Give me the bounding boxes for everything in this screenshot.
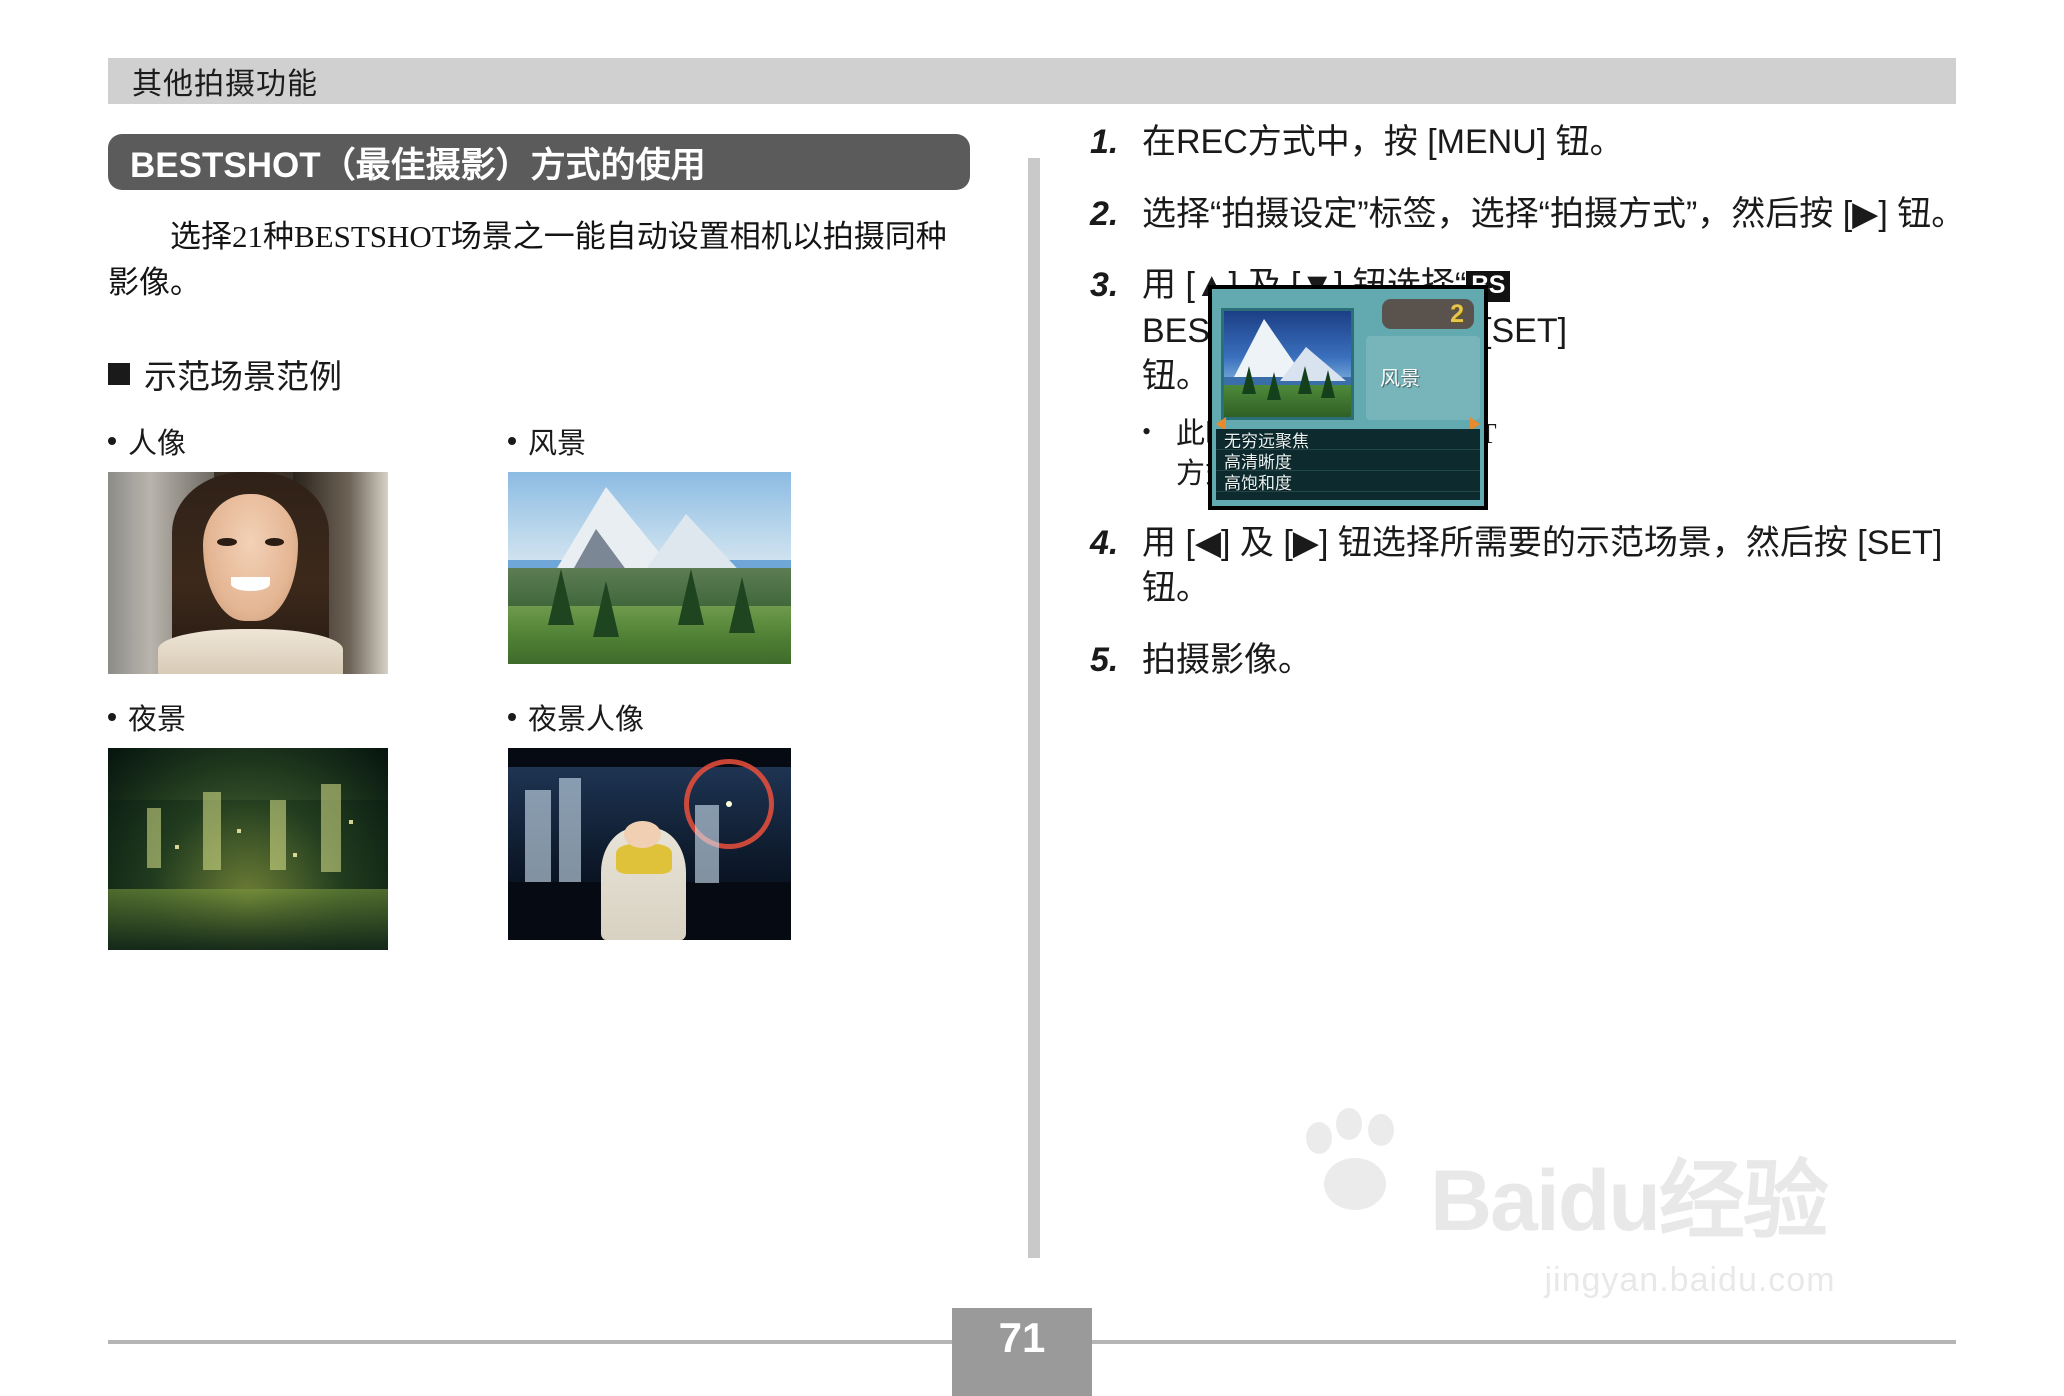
- sample-caption-label: 人像: [128, 420, 186, 462]
- square-bullet-icon: [108, 363, 130, 385]
- column-divider: [1028, 158, 1040, 1258]
- lcd-scene-preview: [1221, 308, 1354, 420]
- lcd-scene-name: 风景: [1380, 362, 1420, 391]
- page-number-box: 71: [952, 1308, 1092, 1396]
- sample-cell: 风景: [508, 420, 848, 674]
- lcd-scene-namebox: 风景: [1366, 336, 1480, 420]
- watermark-main-text: Baidu经验: [1430, 1130, 1950, 1255]
- step-text: 用 [◀] 及 [▶] 钮选择所需要的示范场景，然后按 [SET] 钮。: [1142, 521, 1970, 612]
- sample-caption: 人像: [108, 420, 448, 462]
- portrait-photo: [108, 472, 388, 674]
- chapter-header: 其他拍摄功能: [108, 58, 1956, 104]
- bullet-dot-icon: •: [1142, 414, 1176, 495]
- landscape-photo: [508, 472, 791, 664]
- bullet-dot-icon: [508, 437, 516, 445]
- sample-caption-label: 夜景: [128, 696, 186, 738]
- bullet-dot-icon: [108, 437, 116, 445]
- step-number: 3.: [1090, 263, 1142, 495]
- bullet-dot-icon: [108, 713, 116, 721]
- intro-paragraph: 选择21种BESTSHOT场景之一能自动设置相机以拍摄同种影像。: [108, 214, 948, 306]
- step-1: 1. 在REC方式中，按 [MENU] 钮。: [1090, 120, 1970, 166]
- section-banner: BESTSHOT（最佳摄影）方式的使用: [108, 134, 970, 190]
- sample-caption-label: 夜景人像: [528, 696, 644, 738]
- manual-page: 其他拍摄功能 BESTSHOT（最佳摄影）方式的使用 选择21种BESTSHOT…: [0, 0, 2064, 1396]
- step-5: 5. 拍摄影像。: [1090, 638, 1970, 684]
- step-number: 2.: [1090, 192, 1142, 238]
- sample-caption-label: 风景: [528, 420, 586, 462]
- sample-cell: 夜景: [108, 696, 448, 950]
- step-text: 选择“拍摄设定”标签，选择“拍摄方式”，然后按 [▶] 钮。: [1142, 192, 1965, 238]
- night-portrait-photo: [508, 748, 791, 940]
- step-number: 4.: [1090, 521, 1142, 612]
- sample-scene-grid: 人像 风景: [108, 420, 988, 950]
- step-number: 5.: [1090, 638, 1142, 684]
- paw-print-icon: [1300, 1106, 1420, 1216]
- sample-cell: 人像: [108, 420, 448, 674]
- watermark-sub-text: jingyan.baidu.com: [1430, 1261, 1950, 1300]
- sub-heading-label: 示范场景范例: [144, 350, 342, 398]
- step-text: 拍摄影像。: [1142, 638, 1312, 684]
- lcd-screen: 2 风景 无穷远聚焦 高清晰度 高饱和度: [1212, 289, 1484, 506]
- left-column: BESTSHOT（最佳摄影）方式的使用 选择21种BESTSHOT场景之一能自动…: [108, 120, 988, 950]
- lcd-scene-counter: 2: [1382, 299, 1474, 329]
- sample-cell: 夜景人像: [508, 696, 848, 950]
- lcd-list-item: 高饱和度: [1216, 471, 1480, 492]
- camera-lcd-illustration: 2 风景 无穷远聚焦 高清晰度 高饱和度: [1208, 285, 1488, 510]
- baidu-watermark: Baidu经验 jingyan.baidu.com: [1430, 1130, 1950, 1320]
- sub-heading: 示范场景范例: [108, 350, 988, 398]
- lcd-feature-list: 无穷远聚焦 高清晰度 高饱和度: [1216, 429, 1480, 500]
- section-banner-title: BESTSHOT（最佳摄影）方式的使用: [108, 137, 706, 188]
- step-number: 1.: [1090, 120, 1142, 166]
- step-text: 在REC方式中，按 [MENU] 钮。: [1142, 120, 1624, 166]
- sample-caption: 夜景: [108, 696, 448, 738]
- page-number: 71: [999, 1308, 1046, 1362]
- bullet-dot-icon: [508, 713, 516, 721]
- step-4: 4. 用 [◀] 及 [▶] 钮选择所需要的示范场景，然后按 [SET] 钮。: [1090, 521, 1970, 612]
- step-2: 2. 选择“拍摄设定”标签，选择“拍摄方式”，然后按 [▶] 钮。: [1090, 192, 1970, 238]
- night-scene-photo: [108, 748, 388, 950]
- sample-caption: 风景: [508, 420, 848, 462]
- lcd-counter-value: 2: [1450, 300, 1464, 329]
- sample-caption: 夜景人像: [508, 696, 848, 738]
- chapter-title: 其他拍摄功能: [108, 59, 318, 103]
